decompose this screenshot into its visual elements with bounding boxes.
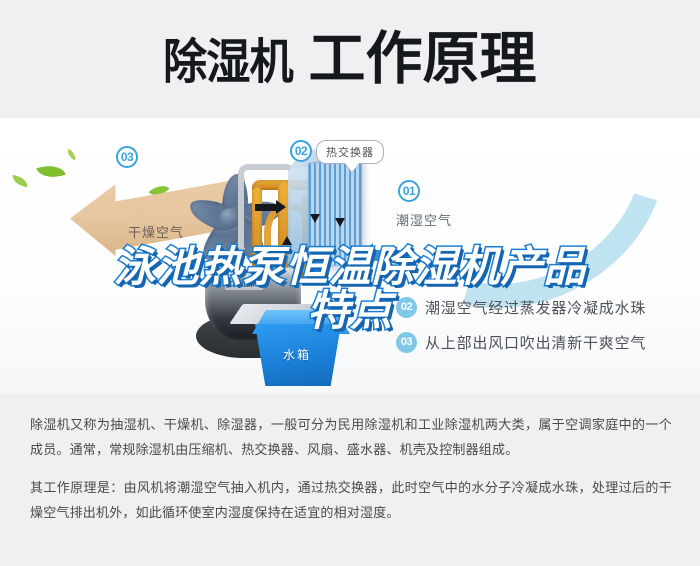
- dry-air-label: 干燥空气: [128, 222, 184, 241]
- airflow-arrow-down-icon: [310, 214, 320, 223]
- body-paragraph-1: 除湿机又称为抽湿机、干燥机、除湿器，一般可分为民用除湿机和工业除湿机两大类，属于…: [30, 412, 672, 463]
- infographic-page: 除湿机 工作原理 03 干燥空气 01 潮湿空气: [0, 0, 700, 566]
- body-copy: 除湿机又称为抽湿机、干燥机、除湿器，一般可分为民用除湿机和工业除湿机两大类，属于…: [30, 412, 672, 525]
- illustration-badge-03: 03: [116, 146, 138, 168]
- heat-exchanger-side: [288, 162, 310, 270]
- leaf-icon: [36, 160, 65, 182]
- intake-arrow-icon: [372, 250, 414, 261]
- step-item: 03 从上部出风口吹出清新干爽空气: [396, 331, 696, 353]
- airflow-arrow-down-icon: [335, 218, 345, 227]
- step-list: 02 潮湿空气经过蒸发器冷凝成水珠 03 从上部出风口吹出清新干爽空气: [396, 296, 696, 366]
- airflow-arrow-right-icon: [255, 204, 277, 211]
- airflow-arrow-up-icon: [282, 236, 292, 245]
- heat-exchanger-fins-icon: [308, 157, 362, 269]
- step-label: 从上部出风口吹出清新干爽空气: [425, 332, 646, 353]
- illustration-badge-01: 01: [398, 180, 420, 202]
- illustration-badge-02: 02: [290, 140, 312, 162]
- compressor-label: 压缩机: [225, 273, 263, 290]
- page-title-part1: 除湿机: [163, 39, 293, 87]
- fan-hub: [220, 208, 240, 228]
- step-badge: 02: [396, 297, 417, 318]
- header: 除湿机 工作原理: [0, 0, 700, 118]
- step-item: 02 潮湿空气经过蒸发器冷凝成水珠: [396, 296, 696, 318]
- leaf-icon: [11, 175, 28, 187]
- body-paragraph-2: 其工作原理是：由风机将潮湿空气抽入机内，通过热交换器，此时空气中的水分子冷凝成水…: [30, 475, 672, 526]
- step-badge: 03: [396, 332, 417, 353]
- step-label: 潮湿空气经过蒸发器冷凝成水珠: [425, 297, 646, 318]
- illustration-stage: 03 干燥空气 01 潮湿空气: [0, 118, 700, 393]
- humid-air-label: 潮湿空气: [396, 210, 452, 229]
- leaf-icon: [65, 149, 78, 161]
- heat-exchanger-callout: 热交换器: [316, 140, 384, 164]
- water-tank-label: 水箱: [283, 346, 311, 363]
- page-title: 除湿机 工作原理: [163, 31, 536, 88]
- page-title-part2: 工作原理: [309, 31, 537, 88]
